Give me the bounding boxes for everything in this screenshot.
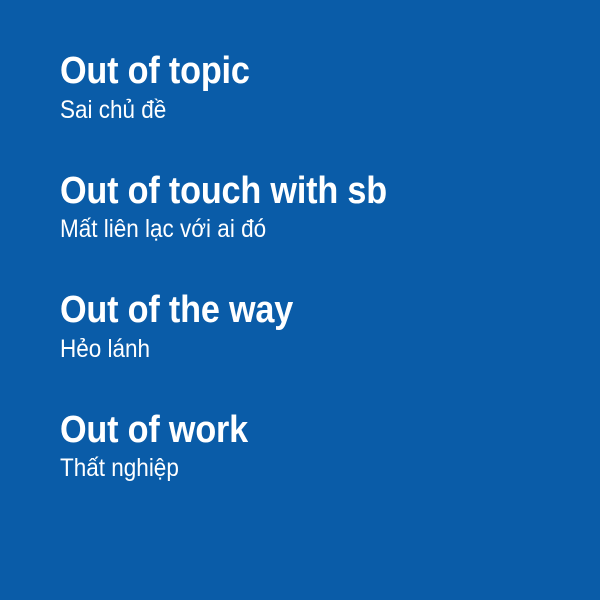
idiom-term: Out of topic <box>60 52 510 92</box>
idiom-term: Out of touch with sb <box>60 172 510 212</box>
idiom-meaning: Hẻo lánh <box>60 334 510 364</box>
list-item: Out of the way Hẻo lánh <box>60 291 560 364</box>
idiom-term: Out of the way <box>60 291 510 331</box>
idiom-meaning: Thất nghiệp <box>60 453 510 483</box>
idiom-card: Out of topic Sai chủ đề Out of touch wit… <box>0 0 600 600</box>
idiom-entry-list: Out of topic Sai chủ đề Out of touch wit… <box>60 52 560 483</box>
idiom-term: Out of work <box>60 411 510 451</box>
list-item: Out of topic Sai chủ đề <box>60 52 560 125</box>
list-item: Out of work Thất nghiệp <box>60 411 560 484</box>
list-item: Out of touch with sb Mất liên lạc với ai… <box>60 172 560 245</box>
idiom-meaning: Sai chủ đề <box>60 95 510 125</box>
idiom-meaning: Mất liên lạc với ai đó <box>60 214 510 244</box>
